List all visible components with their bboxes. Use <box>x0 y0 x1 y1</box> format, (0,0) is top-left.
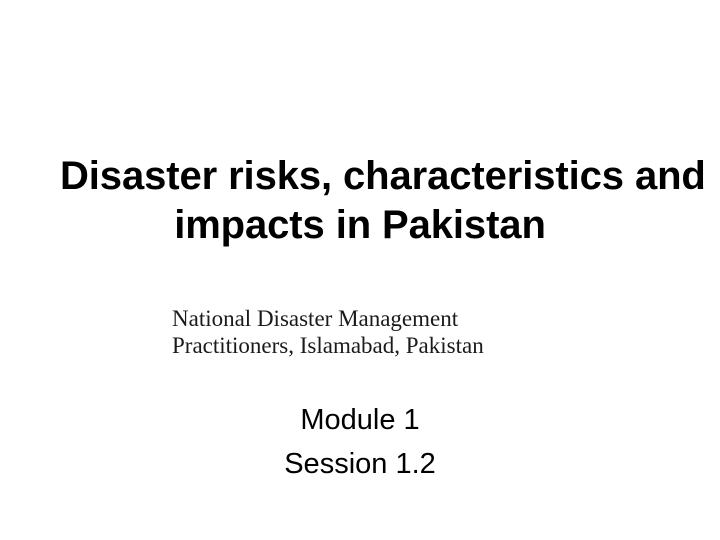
subtitle-line-2: Practitioners, Islamabad, Pakistan <box>172 332 572 359</box>
slide-module-info: Module 1 Session 1.2 <box>60 398 660 486</box>
title-line-2: impacts in Pakistan <box>60 201 660 250</box>
slide-title: Disaster risks, characteristics and impa… <box>60 152 660 250</box>
session-number: Session 1.2 <box>60 442 660 486</box>
slide-subtitle: National Disaster Management Practitione… <box>172 305 572 359</box>
module-number: Module 1 <box>60 398 660 442</box>
presentation-slide: Disaster risks, characteristics and impa… <box>0 0 720 540</box>
subtitle-line-1: National Disaster Management <box>172 305 572 332</box>
title-line-1: Disaster risks, characteristics and <box>60 152 660 201</box>
